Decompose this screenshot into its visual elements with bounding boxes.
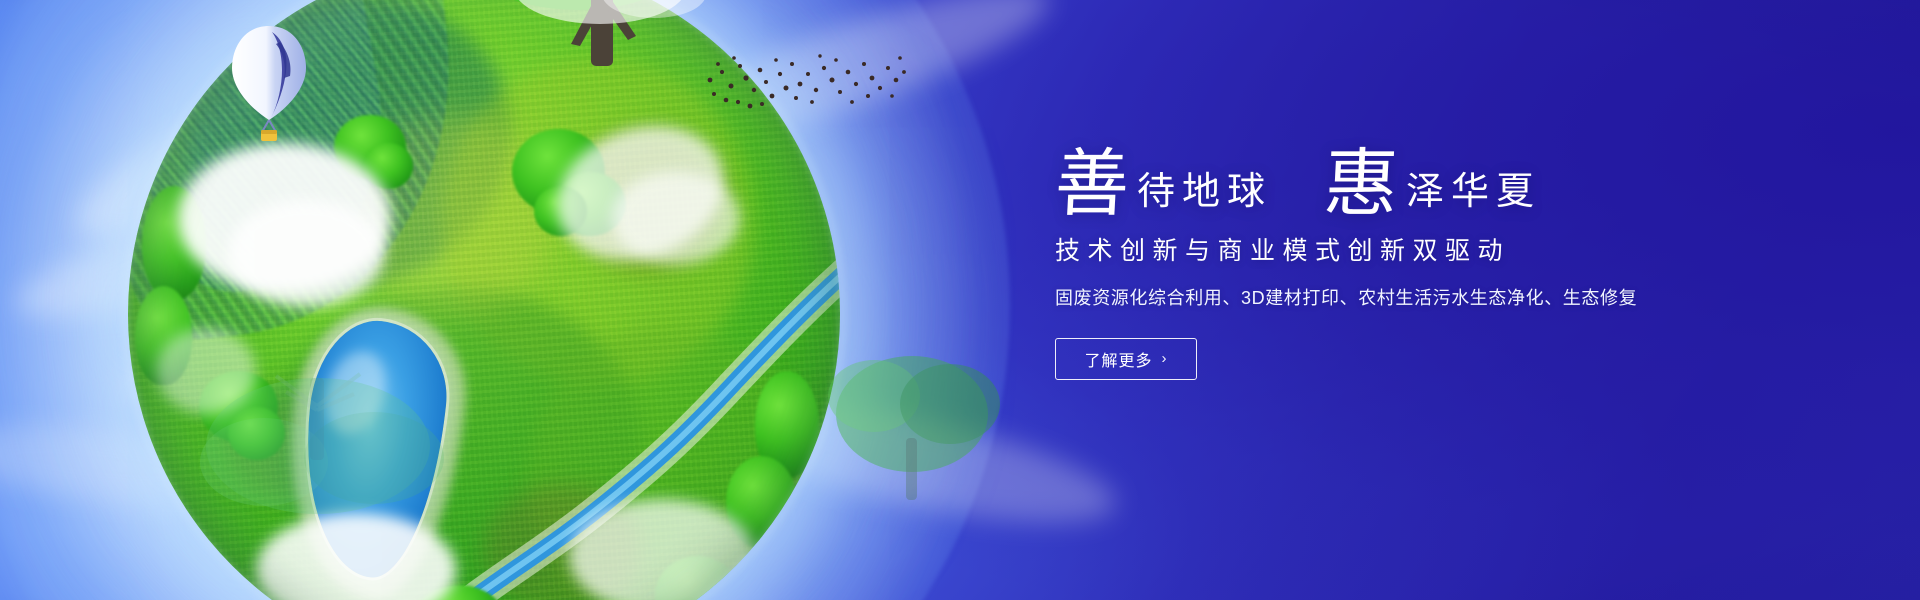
hero-subtitle: 技术创新与商业模式创新双驱动 xyxy=(1055,235,1775,269)
headline-part-1: 待地球 xyxy=(1129,173,1272,221)
learn-more-label: 了解更多 xyxy=(1084,347,1152,371)
page-title: 善 待地球 惠 泽华夏 xyxy=(1055,150,1775,221)
hero-banner: 善 待地球 惠 泽华夏 技术创新与商业模式创新双驱动 固废资源化综合利用、3D建… xyxy=(0,0,1920,600)
chevron-right-icon: › xyxy=(1162,351,1168,366)
headline-part-2: 泽华夏 xyxy=(1398,173,1541,221)
hero-content: 善 待地球 惠 泽华夏 技术创新与商业模式创新双驱动 固废资源化综合利用、3D建… xyxy=(1055,150,1775,380)
learn-more-button[interactable]: 了解更多 › xyxy=(1055,338,1197,380)
hot-air-balloon-icon xyxy=(226,22,312,146)
hero-tagline: 固废资源化综合利用、3D建材打印、农村生活污水生态净化、生态修复 xyxy=(1055,285,1775,312)
bird-flock-icon xyxy=(700,44,910,124)
headline-char-2: 惠 xyxy=(1322,150,1400,221)
headline-char-1: 善 xyxy=(1053,150,1131,221)
